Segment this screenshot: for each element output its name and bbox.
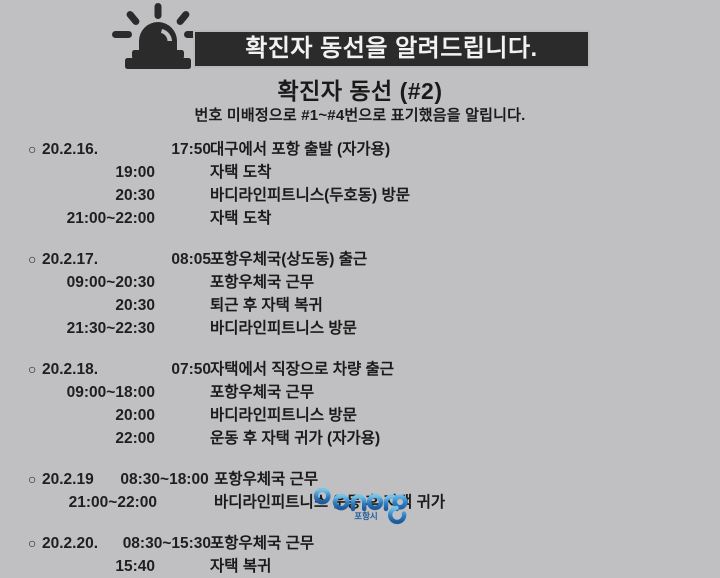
timeline-time: 21:00~22:00 — [67, 207, 155, 230]
timeline-entry-lead: 21:00~22:00 — [28, 207, 210, 230]
timeline-time-column: 21:00~22:00 — [47, 207, 155, 230]
timeline-time: 19:00 — [115, 161, 155, 184]
timeline-time-column: 08:30~15:30 — [103, 532, 211, 555]
timeline-entry: 19:00자택 도착 — [28, 161, 692, 184]
timeline-entry: 20:00바디라인피트니스 방문 — [28, 404, 692, 427]
bullet-marker-icon: ○ — [28, 358, 42, 381]
timeline-time-column: 21:30~22:30 — [47, 317, 155, 340]
timeline-time: 08:05 — [171, 248, 211, 271]
timeline-time-column: 08:05 — [103, 248, 211, 271]
timeline-entry-lead: ○20.2.17.08:05 — [28, 248, 210, 271]
timeline-entry-lead: 20:30 — [28, 184, 210, 207]
timeline-description: 바디라인피트니스 방문 — [210, 404, 357, 427]
poster-header: 확진자 동선을 알려드립니다. — [0, 0, 720, 72]
timeline-time: 09:00~18:00 — [67, 381, 155, 404]
bullet-marker-icon: ○ — [28, 532, 42, 555]
timeline-date: 20.2.19 — [42, 468, 99, 491]
timeline-description: 포항우체국 근무 — [210, 271, 314, 294]
timeline-entry: 09:00~20:30포항우체국 근무 — [28, 271, 692, 294]
bullet-marker-icon: ○ — [28, 468, 42, 491]
timeline-time: 20:30 — [115, 294, 155, 317]
svg-text:포항시: 포항시 — [354, 511, 377, 521]
timeline-time-column: 20:30 — [47, 294, 155, 317]
timeline-description: 포항우체국 근무 — [210, 532, 314, 555]
timeline-time: 20:00 — [115, 404, 155, 427]
timeline-time-column: 08:30~18:00 — [99, 468, 209, 491]
timeline-day-block: ○20.2.18.07:50자택에서 직장으로 차량 출근09:00~18:00… — [28, 358, 692, 450]
timeline-entry: ○20.2.20.08:30~15:30포항우체국 근무 — [28, 532, 692, 555]
timeline-time-column: 09:00~18:00 — [47, 381, 155, 404]
timeline-time: 07:50 — [171, 358, 211, 381]
timeline-time-column: 19:00 — [47, 161, 155, 184]
timeline-time: 22:00 — [115, 427, 155, 450]
timeline-entry-lead: 21:00~22:00 — [28, 491, 214, 514]
timeline-entry: 20:30바디라인피트니스(두호동) 방문 — [28, 184, 692, 207]
timeline-entry-lead: ○20.2.16.17:50 — [28, 138, 210, 161]
timeline-description: 바디라인피트니스(두호동) 방문 — [210, 184, 410, 207]
timeline-description: 운동 후 자택 귀가 (자가용) — [210, 427, 380, 450]
pohang-city-logo: 포항시 — [310, 488, 408, 528]
timeline-entry: 22:00운동 후 자택 귀가 (자가용) — [28, 427, 692, 450]
bullet-marker-icon: ○ — [28, 138, 42, 161]
timeline-time-column: 09:00~20:30 — [47, 271, 155, 294]
timeline-entry: 20:30퇴근 후 자택 복귀 — [28, 294, 692, 317]
timeline-entry-lead: 19:00 — [28, 161, 210, 184]
page-subtitle: 번호 미배정으로 #1~#4번으로 표기했음을 알립니다. — [0, 106, 720, 126]
timeline-entry-lead: 22:00 — [28, 427, 210, 450]
timeline-time-column: 07:50 — [103, 358, 211, 381]
timeline-description: 포항우체국(상도동) 출근 — [210, 248, 367, 271]
timeline-entry: ○20.2.18.07:50자택에서 직장으로 차량 출근 — [28, 358, 692, 381]
timeline-time: 08:30~18:00 — [120, 468, 208, 491]
timeline-entry-lead: 09:00~20:30 — [28, 271, 210, 294]
timeline-entry-lead: 15:40 — [28, 555, 210, 578]
timeline-time-column: 20:30 — [47, 184, 155, 207]
page-title: 확진자 동선 (#2) — [0, 78, 720, 104]
timeline-time: 09:00~20:30 — [67, 271, 155, 294]
timeline-entry-lead: 20:00 — [28, 404, 210, 427]
poster-root: 확진자 동선을 알려드립니다. 확진자 동선 (#2) 번호 미배정으로 #1~… — [0, 0, 720, 540]
timeline-description: 바디라인피트니스 방문 — [210, 317, 357, 340]
timeline-entry-lead: ○20.2.1908:30~18:00 — [28, 468, 214, 491]
timeline-time: 21:30~22:30 — [67, 317, 155, 340]
timeline-description: 자택 도착 — [210, 207, 271, 230]
timeline-entry-lead: ○20.2.20.08:30~15:30 — [28, 532, 210, 555]
timeline-time: 21:00~22:00 — [69, 491, 157, 514]
bullet-marker-icon: ○ — [28, 248, 42, 271]
timeline-day-block: ○20.2.16.17:50대구에서 포항 출발 (자가용)19:00자택 도착… — [28, 138, 692, 230]
timeline-description: 포항우체국 근무 — [214, 468, 318, 491]
timeline-time-column: 20:00 — [47, 404, 155, 427]
siren-icon — [110, 3, 206, 69]
timeline-day-block: ○20.2.20.08:30~15:30포항우체국 근무15:40자택 복귀 — [28, 532, 692, 578]
timeline-entry: ○20.2.16.17:50대구에서 포항 출발 (자가용) — [28, 138, 692, 161]
title-block: 확진자 동선 (#2) 번호 미배정으로 #1~#4번으로 표기했음을 알립니다… — [0, 78, 720, 126]
timeline-time-column: 17:50 — [103, 138, 211, 161]
timeline-time-column: 22:00 — [47, 427, 155, 450]
timeline-time: 08:30~15:30 — [123, 532, 211, 555]
timeline-entry: 21:30~22:30바디라인피트니스 방문 — [28, 317, 692, 340]
timeline-date: 20.2.18. — [42, 358, 103, 381]
timeline-description: 퇴근 후 자택 복귀 — [210, 294, 323, 317]
timeline-date: 20.2.17. — [42, 248, 103, 271]
timeline-time-column: 15:40 — [47, 555, 155, 578]
timeline-description: 포항우체국 근무 — [210, 381, 314, 404]
timeline-time: 15:40 — [115, 555, 155, 578]
timeline-entry-lead: 21:30~22:30 — [28, 317, 210, 340]
timeline-description: 자택에서 직장으로 차량 출근 — [210, 358, 394, 381]
timeline-time: 17:50 — [171, 138, 211, 161]
timeline-entry: 09:00~18:00포항우체국 근무 — [28, 381, 692, 404]
timeline-entry: ○20.2.17.08:05포항우체국(상도동) 출근 — [28, 248, 692, 271]
timeline-time-column: 21:00~22:00 — [47, 491, 157, 514]
alert-banner-text: 확진자 동선을 알려드립니다. — [245, 37, 537, 61]
timeline-description: 대구에서 포항 출발 (자가용) — [210, 138, 390, 161]
alert-banner: 확진자 동선을 알려드립니다. — [193, 30, 590, 68]
timeline-entry: 15:40자택 복귀 — [28, 555, 692, 578]
timeline-day-block: ○20.2.17.08:05포항우체국(상도동) 출근09:00~20:30포항… — [28, 248, 692, 340]
timeline-description: 자택 도착 — [210, 161, 271, 184]
timeline-date: 20.2.20. — [42, 532, 103, 555]
timeline-entry: 21:00~22:00자택 도착 — [28, 207, 692, 230]
timeline-entry-lead: ○20.2.18.07:50 — [28, 358, 210, 381]
timeline-entry-lead: 20:30 — [28, 294, 210, 317]
timeline-time: 20:30 — [115, 184, 155, 207]
timeline-entry-lead: 09:00~18:00 — [28, 381, 210, 404]
timeline-description: 자택 복귀 — [210, 555, 271, 578]
timeline-date: 20.2.16. — [42, 138, 103, 161]
